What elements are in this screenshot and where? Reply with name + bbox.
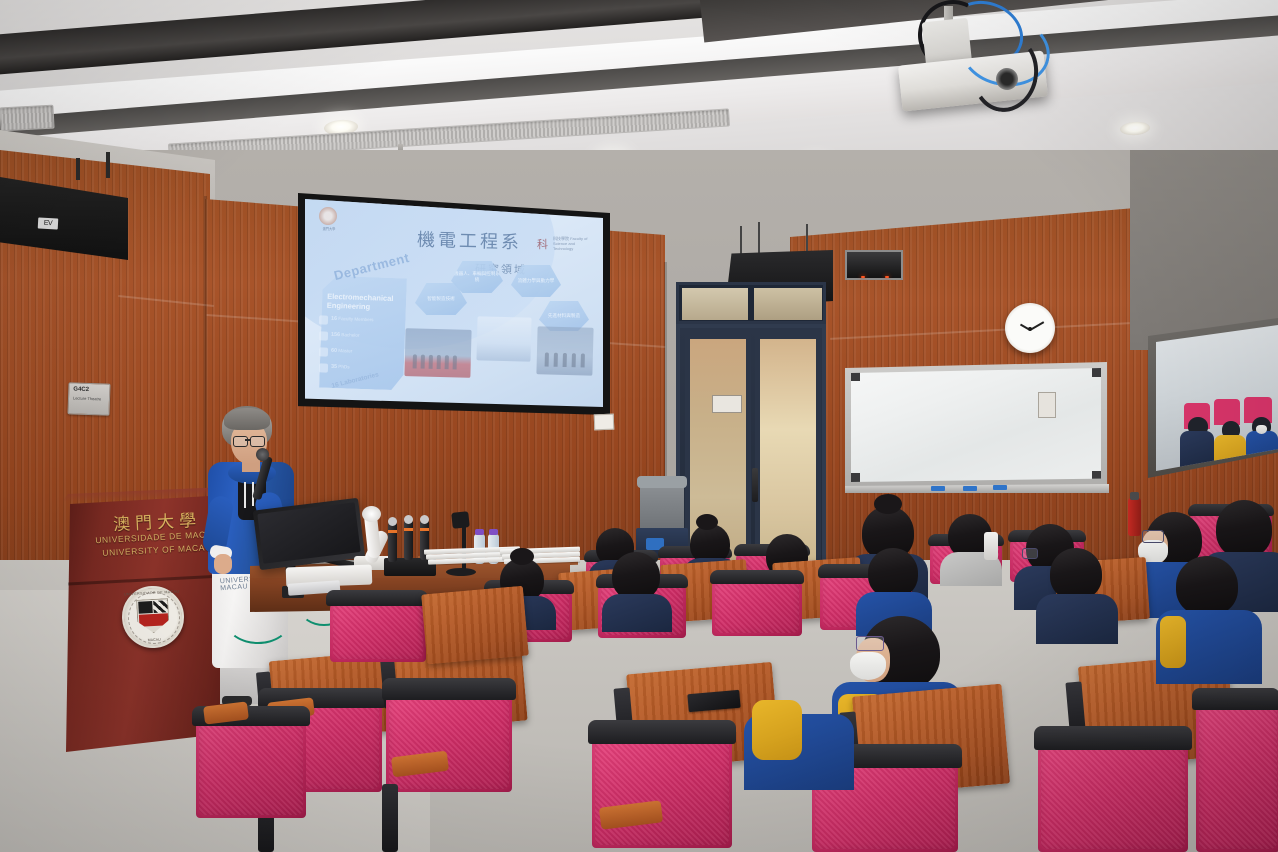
uniform-accent: [752, 700, 802, 760]
slide-stat-label: Faculty Members: [338, 316, 373, 322]
reflected-face-mask: [1256, 425, 1267, 434]
mic-capsule: [388, 517, 397, 526]
slide-stat-value: 156: [331, 332, 340, 338]
speaker-bracket: [76, 158, 80, 180]
robot-arm-joint: [362, 506, 381, 522]
seat-cap: [1034, 726, 1192, 750]
cable-on-floor: [226, 600, 290, 644]
desk-microphone-stand: [462, 520, 466, 574]
slide-photo-group-right: [536, 326, 593, 375]
slide-photo-device-center: [476, 316, 531, 361]
speaker-led-indicator: [885, 276, 889, 278]
desk-microphone-base: [446, 568, 476, 576]
mic-capsule: [420, 515, 429, 524]
seat-back[interactable]: [592, 736, 732, 848]
seat-desk-tablet[interactable]: [421, 586, 529, 665]
uniform-accent: [1160, 616, 1186, 668]
room-sign-code: G4C2: [73, 386, 89, 393]
eyeglasses: [1022, 548, 1038, 559]
whiteboard[interactable]: [851, 368, 1101, 482]
door-transom: [676, 282, 826, 324]
face-mask: [850, 652, 886, 680]
slide-title: 機電工程系: [417, 226, 523, 255]
wireless-microphone[interactable]: [388, 522, 397, 562]
mic-indicator-ring: [404, 528, 413, 531]
room-sign-plate: G4C2 Lecture Theatre: [67, 382, 110, 415]
slide-faculty-text: 科技學院 Faculty of Science and Technology: [553, 236, 591, 251]
person-hair-bun: [696, 514, 718, 530]
marker-blue[interactable]: [993, 485, 1007, 490]
fire-extinguisher: [1128, 498, 1141, 536]
seat-back[interactable]: [1196, 700, 1278, 852]
eyeglasses: [1142, 530, 1164, 543]
seat-frame: [382, 784, 398, 852]
wall-clock: [1005, 303, 1055, 353]
person-head: [612, 552, 660, 600]
bottle-cap: [489, 529, 498, 535]
slide-content: 澳門大學 機電工程系 研究領域 科 科技學院 Faculty of Scienc…: [305, 199, 603, 407]
ceiling-vent: [0, 105, 55, 132]
person-hair-bun: [874, 494, 902, 514]
transom-pane: [682, 288, 748, 320]
trash-bin-lid: [637, 476, 687, 488]
glasses-lens-right: [250, 436, 265, 447]
seat-cap: [588, 720, 736, 744]
slide-university-seal-icon: [319, 207, 337, 225]
slide-faculty-logo: 科 科技學院 Faculty of Science and Technology: [537, 235, 591, 253]
presenter-hair-front: [224, 408, 270, 430]
slide-seal-caption: 澳門大學: [311, 227, 347, 231]
speaker-hanger-wire: [806, 224, 808, 252]
slide-stat-value: 60: [331, 348, 337, 354]
mic-capsule: [404, 515, 413, 524]
person-head: [868, 548, 918, 598]
trash-bin: [640, 482, 684, 534]
slide-stat-value: 16: [331, 316, 337, 322]
whiteboard-corner: [851, 372, 860, 381]
ceiling-projector: [900, 14, 1050, 104]
wall-notice-paper: [594, 414, 615, 431]
wireless-microphone[interactable]: [404, 520, 413, 560]
slide-photo-group-left: [404, 328, 471, 378]
door-notice: [712, 395, 742, 413]
hood-string: [244, 482, 246, 508]
slide-stat-label: Master: [338, 348, 352, 353]
mic-indicator-ring: [388, 530, 397, 533]
slide-stat-label: Bachelor: [341, 332, 359, 338]
wall-notice-right: [1038, 392, 1056, 418]
person-head: [1216, 500, 1272, 558]
phd-icon: [319, 363, 328, 372]
seat-cap: [710, 570, 804, 584]
slide-department-name: Electromechanical Engineering: [327, 292, 402, 313]
glasses-bridge: [245, 439, 251, 441]
slide-stat-label: PhDs: [338, 364, 349, 369]
projection-screen: 澳門大學 機電工程系 研究領域 科 科技學院 Faculty of Scienc…: [305, 199, 603, 407]
marker-blue[interactable]: [963, 486, 977, 491]
master-icon: [319, 347, 328, 356]
seat-back[interactable]: [1038, 742, 1188, 852]
marker-blue[interactable]: [931, 486, 945, 491]
transom-pane: [754, 288, 822, 320]
faculty-icon: [319, 315, 328, 324]
bottle-cap: [475, 529, 484, 535]
seat-back[interactable]: [196, 718, 306, 818]
speaker-hanger-wire: [758, 222, 760, 254]
lecture-hall-photo: EV G4C2 Lecture Theatre 澳門大學 機電工程系 研究領域 …: [0, 0, 1278, 852]
glasses-lens-left: [233, 436, 248, 447]
person-hair-bun: [510, 548, 534, 565]
slide-faculty-mark: 科: [537, 236, 548, 252]
seat-back[interactable]: [712, 578, 802, 636]
speaker-bracket: [106, 152, 110, 178]
speaker-hanger-wire: [740, 226, 742, 254]
person-head: [1176, 556, 1238, 616]
far-right-wall: [1130, 150, 1278, 350]
observation-window: [1156, 325, 1278, 471]
person-shoulders: [1036, 594, 1118, 644]
desk-microphone-head: [451, 511, 470, 529]
presenter-hand-left: [214, 554, 232, 574]
seat-back[interactable]: [330, 600, 426, 662]
seat-cap: [382, 678, 516, 700]
seat-cap: [1192, 688, 1278, 710]
speaker-brand-badge: EV: [38, 217, 59, 229]
crest-quarter: [153, 600, 168, 613]
clock-center-dot: [1028, 327, 1032, 331]
person-shoulders: [602, 594, 672, 632]
bachelor-icon: [319, 331, 328, 340]
fire-extinguisher-valve: [1130, 492, 1139, 500]
speaker-led-indicator: [861, 276, 865, 278]
whiteboard-corner: [851, 473, 860, 482]
mic-indicator-ring: [420, 528, 429, 531]
wall-speaker-right: [845, 250, 903, 280]
whiteboard-corner: [1092, 368, 1101, 377]
person-head: [1050, 548, 1102, 600]
door-handle[interactable]: [752, 468, 758, 502]
slide-stat-value: 35: [331, 364, 337, 370]
seat-cap: [326, 590, 428, 606]
drink-cup: [984, 532, 998, 560]
eyeglasses: [856, 636, 884, 651]
room-sign-sub: Lecture Theatre: [73, 395, 105, 401]
crest-quarter: [138, 601, 153, 614]
seat-back[interactable]: [386, 692, 512, 792]
